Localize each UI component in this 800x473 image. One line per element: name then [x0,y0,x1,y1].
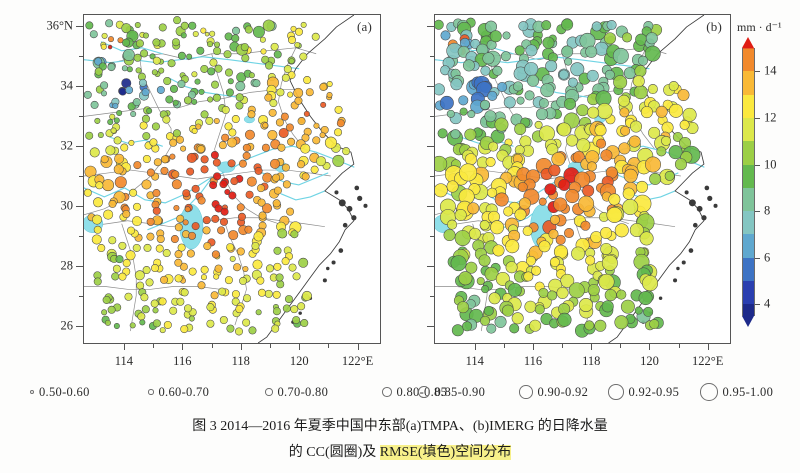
station-marker [278,229,287,238]
station-marker [253,79,260,86]
island-dot [707,196,712,201]
x-tick-minor [620,344,621,348]
island-dot [705,186,710,191]
station-marker [288,36,295,43]
station-marker [568,78,577,87]
colorbar-tick-label: 4 [764,297,770,312]
island-dot [363,204,367,208]
station-marker [237,204,244,211]
station-marker [249,73,254,78]
station-marker [116,110,121,115]
station-marker [127,227,134,234]
station-marker [543,37,554,48]
station-marker [122,66,127,71]
station-marker [110,114,115,119]
station-marker [552,152,565,165]
y-tick-minor [430,296,434,297]
station-marker [105,20,112,27]
station-marker [604,33,615,44]
station-marker [438,129,447,138]
station-marker [121,144,128,151]
map-panel-b: (b) [434,14,731,344]
station-marker [95,118,100,123]
station-marker [242,54,249,61]
x-tick-label: 122°E [692,354,723,369]
station-marker [638,56,647,65]
station-marker [90,30,97,37]
station-marker [320,83,327,90]
station-marker [486,157,495,166]
station-marker [198,282,205,289]
y-tick-label: 34 [27,79,73,94]
station-marker [581,221,590,230]
station-marker [595,124,606,135]
station-marker [480,316,489,325]
station-marker [259,212,266,219]
station-marker [171,235,178,242]
station-marker [274,187,281,194]
station-marker [84,189,91,196]
station-marker [451,79,462,90]
station-marker [152,70,157,75]
station-marker [623,199,638,214]
station-marker [213,173,220,180]
y-tick-label: 26 [27,319,73,334]
station-marker [220,180,227,187]
station-marker [635,65,646,76]
y-tick-mark [427,26,434,27]
station-marker [447,181,458,192]
station-marker [269,109,276,116]
y-tick-label: 30 [27,199,73,214]
island-dot [659,297,662,300]
legend-circle-icon [265,388,273,396]
station-marker [592,22,601,31]
station-marker [175,224,182,231]
colorbar-band [742,281,755,304]
station-marker [287,92,292,97]
station-marker [541,20,550,29]
station-marker [561,19,572,30]
station-marker [254,232,263,241]
station-marker [282,164,289,171]
station-marker [435,184,447,197]
station-marker [201,274,206,279]
y-tick-mark [76,206,83,207]
station-marker [634,86,647,99]
legend-label: 0.90-0.92 [538,385,589,400]
station-marker [524,272,533,281]
station-marker [207,97,212,102]
station-marker [504,97,515,108]
station-marker [502,305,513,316]
station-marker [91,101,98,108]
station-marker [451,255,466,270]
station-marker [535,305,544,314]
station-marker [624,169,637,182]
x-tick-mark [591,344,592,350]
station-marker [218,288,225,295]
x-tick-mark [182,344,183,350]
island-dot [339,199,346,206]
station-marker [273,200,280,207]
station-marker [136,40,143,47]
station-marker [205,32,209,36]
station-marker [274,247,281,254]
station-marker [253,26,264,37]
colorbar-band [742,188,755,211]
station-marker [459,164,476,181]
station-marker [103,296,110,303]
station-marker [490,221,503,234]
station-marker [641,106,652,117]
station-marker [142,306,149,313]
station-marker [536,108,547,119]
station-marker [119,273,126,280]
station-marker [579,298,592,311]
x-tick-minor [212,344,213,348]
station-marker [111,128,116,133]
station-marker [301,319,308,326]
station-marker [313,137,320,144]
station-marker [293,273,300,280]
station-marker [197,47,204,54]
station-marker [669,81,678,90]
station-marker [665,171,674,180]
caption-line-1: 图 3 2014—2016 年夏季中国中东部(a)TMPA、(b)IMERG 的… [0,414,800,440]
station-marker [158,68,163,73]
station-marker [153,39,160,46]
island-dot [714,204,718,208]
station-marker [153,320,160,327]
island-dot [354,186,359,191]
station-marker [101,155,108,162]
station-marker [103,210,112,219]
x-tick-minor [153,344,154,348]
station-marker [270,99,277,106]
station-marker [550,257,559,266]
station-marker [260,37,265,42]
station-marker [683,108,696,121]
station-marker [447,220,456,229]
station-marker [177,298,184,305]
station-marker [566,189,579,202]
panel-label-b: (b) [706,19,722,35]
station-marker [295,28,302,35]
y-tick-minor [430,116,434,117]
station-marker [335,106,342,113]
station-marker [320,102,325,107]
station-marker [228,160,235,167]
x-tick-label: 118 [232,354,250,369]
station-marker [209,31,214,36]
station-marker [207,41,212,46]
island-dot [323,278,327,282]
station-marker [303,76,310,83]
station-marker [588,284,599,295]
station-marker [526,256,535,265]
station-marker [248,111,255,118]
station-marker [539,126,554,141]
station-marker [600,227,611,238]
station-marker [278,144,285,151]
station-marker [539,288,548,297]
station-marker [146,279,153,286]
station-marker [219,141,226,148]
colorbar-band [742,48,755,49]
station-marker [241,43,248,50]
y-tick-minor [430,56,434,57]
station-marker [295,97,302,104]
map-canvas-b [435,15,730,343]
station-marker [577,139,590,152]
station-marker [279,128,288,137]
station-marker [114,323,119,328]
colorbar-tick-mark [755,165,760,166]
station-marker [452,325,463,336]
station-marker [175,275,182,282]
x-tick-minor [328,344,329,348]
station-marker [287,138,294,145]
station-marker [621,300,634,313]
x-tick-mark [241,344,242,350]
legend-label: 0.50-0.60 [39,385,90,400]
y-tick-minor [79,296,83,297]
station-marker [289,58,294,63]
station-marker [620,108,629,117]
station-marker [140,320,145,325]
size-legend: 0.50-0.600.60-0.700.70-0.800.80-0.850.85… [0,378,800,406]
y-tick-mark [76,86,83,87]
station-marker [235,328,242,335]
station-marker [100,82,107,89]
station-marker [214,118,219,123]
station-marker [485,110,496,121]
station-marker [105,320,110,325]
station-marker [514,123,525,134]
station-marker [181,33,186,38]
x-tick-mark [475,344,476,350]
station-marker [188,232,195,239]
station-marker [204,242,211,249]
station-marker [586,46,597,57]
station-marker [469,228,480,239]
station-marker [657,147,666,156]
station-marker [506,262,517,273]
station-marker [649,319,658,328]
x-tick-mark [299,344,300,350]
station-marker [166,96,173,103]
station-marker [613,76,626,89]
station-marker [123,49,134,60]
island-dot [697,206,703,212]
station-marker [630,121,641,132]
station-marker [649,173,660,184]
station-marker [225,33,232,40]
station-marker [159,24,166,31]
island-dot [334,190,338,194]
station-marker [468,203,479,214]
station-marker [170,85,177,92]
station-marker [669,104,682,117]
station-marker [285,295,292,302]
station-marker [497,82,506,91]
station-marker [556,235,565,244]
station-marker [123,210,130,217]
x-tick-mark [533,344,534,350]
station-marker [209,181,216,188]
station-marker [134,161,141,168]
legend-circle-icon [418,386,430,398]
station-marker [253,260,262,269]
station-marker [172,180,181,189]
station-marker [174,205,179,210]
station-marker [273,291,280,298]
x-tick-label: 120 [640,354,659,369]
station-marker [295,42,300,47]
legend-label: 0.60-0.70 [159,385,210,400]
island-dot [343,223,348,228]
station-marker [164,321,171,328]
station-marker [238,213,245,220]
legend-item-cc: 0.95-1.00 [700,378,773,406]
station-marker [539,198,546,205]
station-marker [325,137,336,148]
station-marker [125,293,132,300]
station-marker [154,158,161,165]
station-marker [108,63,115,70]
station-marker [109,237,116,244]
station-marker [92,215,101,224]
y-tick-mark [427,146,434,147]
station-marker [468,110,475,117]
station-marker [597,103,612,118]
station-marker [92,235,101,244]
island-dot [685,190,689,194]
station-marker [98,132,103,137]
island-dot [357,196,362,201]
station-marker [189,268,196,275]
station-marker [435,84,445,95]
figure-root: (a) (b) 36°N3432302826114116118120122°E … [0,0,800,473]
station-marker [138,313,145,320]
station-marker [187,153,196,162]
island-dot [682,260,686,264]
station-marker [226,89,233,96]
y-tick-label: 28 [27,259,73,274]
station-marker [619,143,630,154]
station-marker [163,249,170,256]
station-marker [189,316,194,321]
station-marker [258,199,265,206]
station-marker [169,307,176,314]
x-tick-label: 116 [524,354,542,369]
station-marker [304,111,309,116]
station-marker [320,132,325,137]
station-marker [301,144,310,153]
station-marker [268,130,277,139]
station-marker [503,207,512,216]
colorbar-tick-mark [755,118,760,119]
y-tick-mark [76,146,83,147]
station-marker [242,319,249,326]
station-marker [239,160,246,167]
station-marker [170,154,175,159]
station-marker [518,182,527,191]
station-marker [615,316,628,329]
station-marker [539,98,548,107]
station-marker [639,291,652,304]
station-marker [111,273,118,280]
station-marker [291,305,298,312]
colorbar-arrow-low [742,316,754,327]
station-marker [175,259,182,266]
station-marker [130,111,135,116]
station-marker [479,255,490,266]
station-marker [222,106,229,113]
colorbar: mm · d⁻¹ 141210864 [737,14,800,344]
station-marker [643,307,652,316]
station-marker [201,65,208,72]
station-marker [605,289,616,300]
station-marker [302,291,311,300]
station-marker [457,301,468,312]
station-marker [212,215,219,222]
y-tick-minor [79,236,83,237]
station-marker [272,174,279,181]
station-marker [545,184,556,195]
station-marker [127,67,132,72]
colorbar-tick-label: 10 [764,157,777,172]
station-marker [535,121,542,128]
station-marker [231,177,238,184]
station-marker [545,60,556,71]
station-marker [629,136,640,147]
x-tick-label: 116 [173,354,191,369]
x-tick-minor [270,344,271,348]
station-marker [517,97,524,104]
station-marker [211,81,218,88]
station-marker [495,118,508,131]
colorbar-tick-mark [755,71,760,72]
station-marker [129,140,134,145]
station-marker [648,84,657,93]
station-marker [646,33,657,44]
station-marker [114,154,123,163]
legend-circle-icon [608,384,624,400]
station-marker [207,303,214,310]
station-marker [142,180,151,189]
station-marker [547,291,556,300]
station-marker [495,316,506,327]
station-marker [153,207,160,214]
station-marker [86,22,93,29]
colorbar-band [742,95,755,118]
station-marker [102,179,113,190]
station-marker [147,169,154,176]
station-marker [483,53,494,64]
colorbar-band [742,165,755,188]
station-marker [282,74,289,81]
station-marker [297,303,304,310]
y-tick-mark [76,26,83,27]
station-marker [181,325,188,332]
island-dot [689,248,694,253]
station-marker [230,256,235,261]
x-tick-label: 114 [466,354,484,369]
station-marker [151,264,158,271]
station-marker [201,156,208,163]
